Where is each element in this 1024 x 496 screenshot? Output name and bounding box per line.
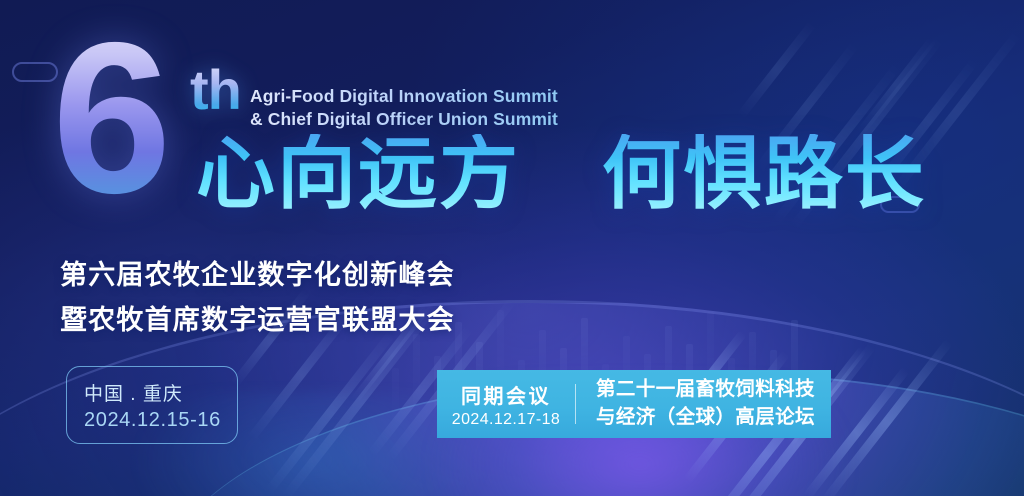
diagonal-stripe xyxy=(820,339,953,496)
concurrent-meeting-label: 同期会议 xyxy=(461,380,551,409)
venue-box: 中国 . 重庆 2024.12.15-16 xyxy=(66,366,238,444)
diagonal-stripe xyxy=(736,20,817,120)
venue-city: 中国 . 重庆 xyxy=(84,379,183,406)
edition-ordinal-suffix: th xyxy=(190,62,241,118)
chinese-subtitle-line-1: 第六届农牧企业数字化创新峰会 xyxy=(60,253,455,298)
conference-banner: 6 th Agri-Food Digital Innovation Summit… xyxy=(0,0,1024,496)
diagonal-stripe xyxy=(856,36,937,136)
chinese-subtitle-line-2: 暨农牧首席数字运营官联盟大会 xyxy=(60,298,455,343)
venue-date: 2024.12.15-16 xyxy=(84,409,221,432)
headline-part-1: 心向远方 xyxy=(196,129,520,218)
concurrent-meeting-title-line-2: 与经济（全球）高层论坛 xyxy=(596,404,831,432)
headline-part-2: 何惧路长 xyxy=(602,129,926,218)
headline: 心向远方 何惧路长 xyxy=(196,134,926,213)
english-title: Agri-Food Digital Innovation Summit & Ch… xyxy=(250,85,558,131)
concurrent-meeting-title-line-1: 第二十一届畜牧饲料科技 xyxy=(596,376,831,404)
diagonal-stripe xyxy=(264,329,397,495)
edition-number: 6 xyxy=(52,10,166,225)
concurrent-meeting-meta: 同期会议 2024.12.17-18 xyxy=(437,380,575,429)
skyline-bar xyxy=(413,334,420,430)
concurrent-meeting-banner: 同期会议 2024.12.17-18 第二十一届畜牧饲料科技 与经济（全球）高层… xyxy=(437,370,831,438)
concurrent-meeting-title: 第二十一届畜牧饲料科技 与经济（全球）高层论坛 xyxy=(576,376,831,431)
english-title-line-1: Agri-Food Digital Innovation Summit xyxy=(250,85,558,108)
concurrent-meeting-date: 2024.12.17-18 xyxy=(452,411,560,429)
english-title-line-2: & Chief Digital Officer Union Summit xyxy=(250,108,558,131)
chinese-subtitle: 第六届农牧企业数字化创新峰会 暨农牧首席数字运营官联盟大会 xyxy=(60,253,455,343)
skyline-bar xyxy=(392,368,399,430)
